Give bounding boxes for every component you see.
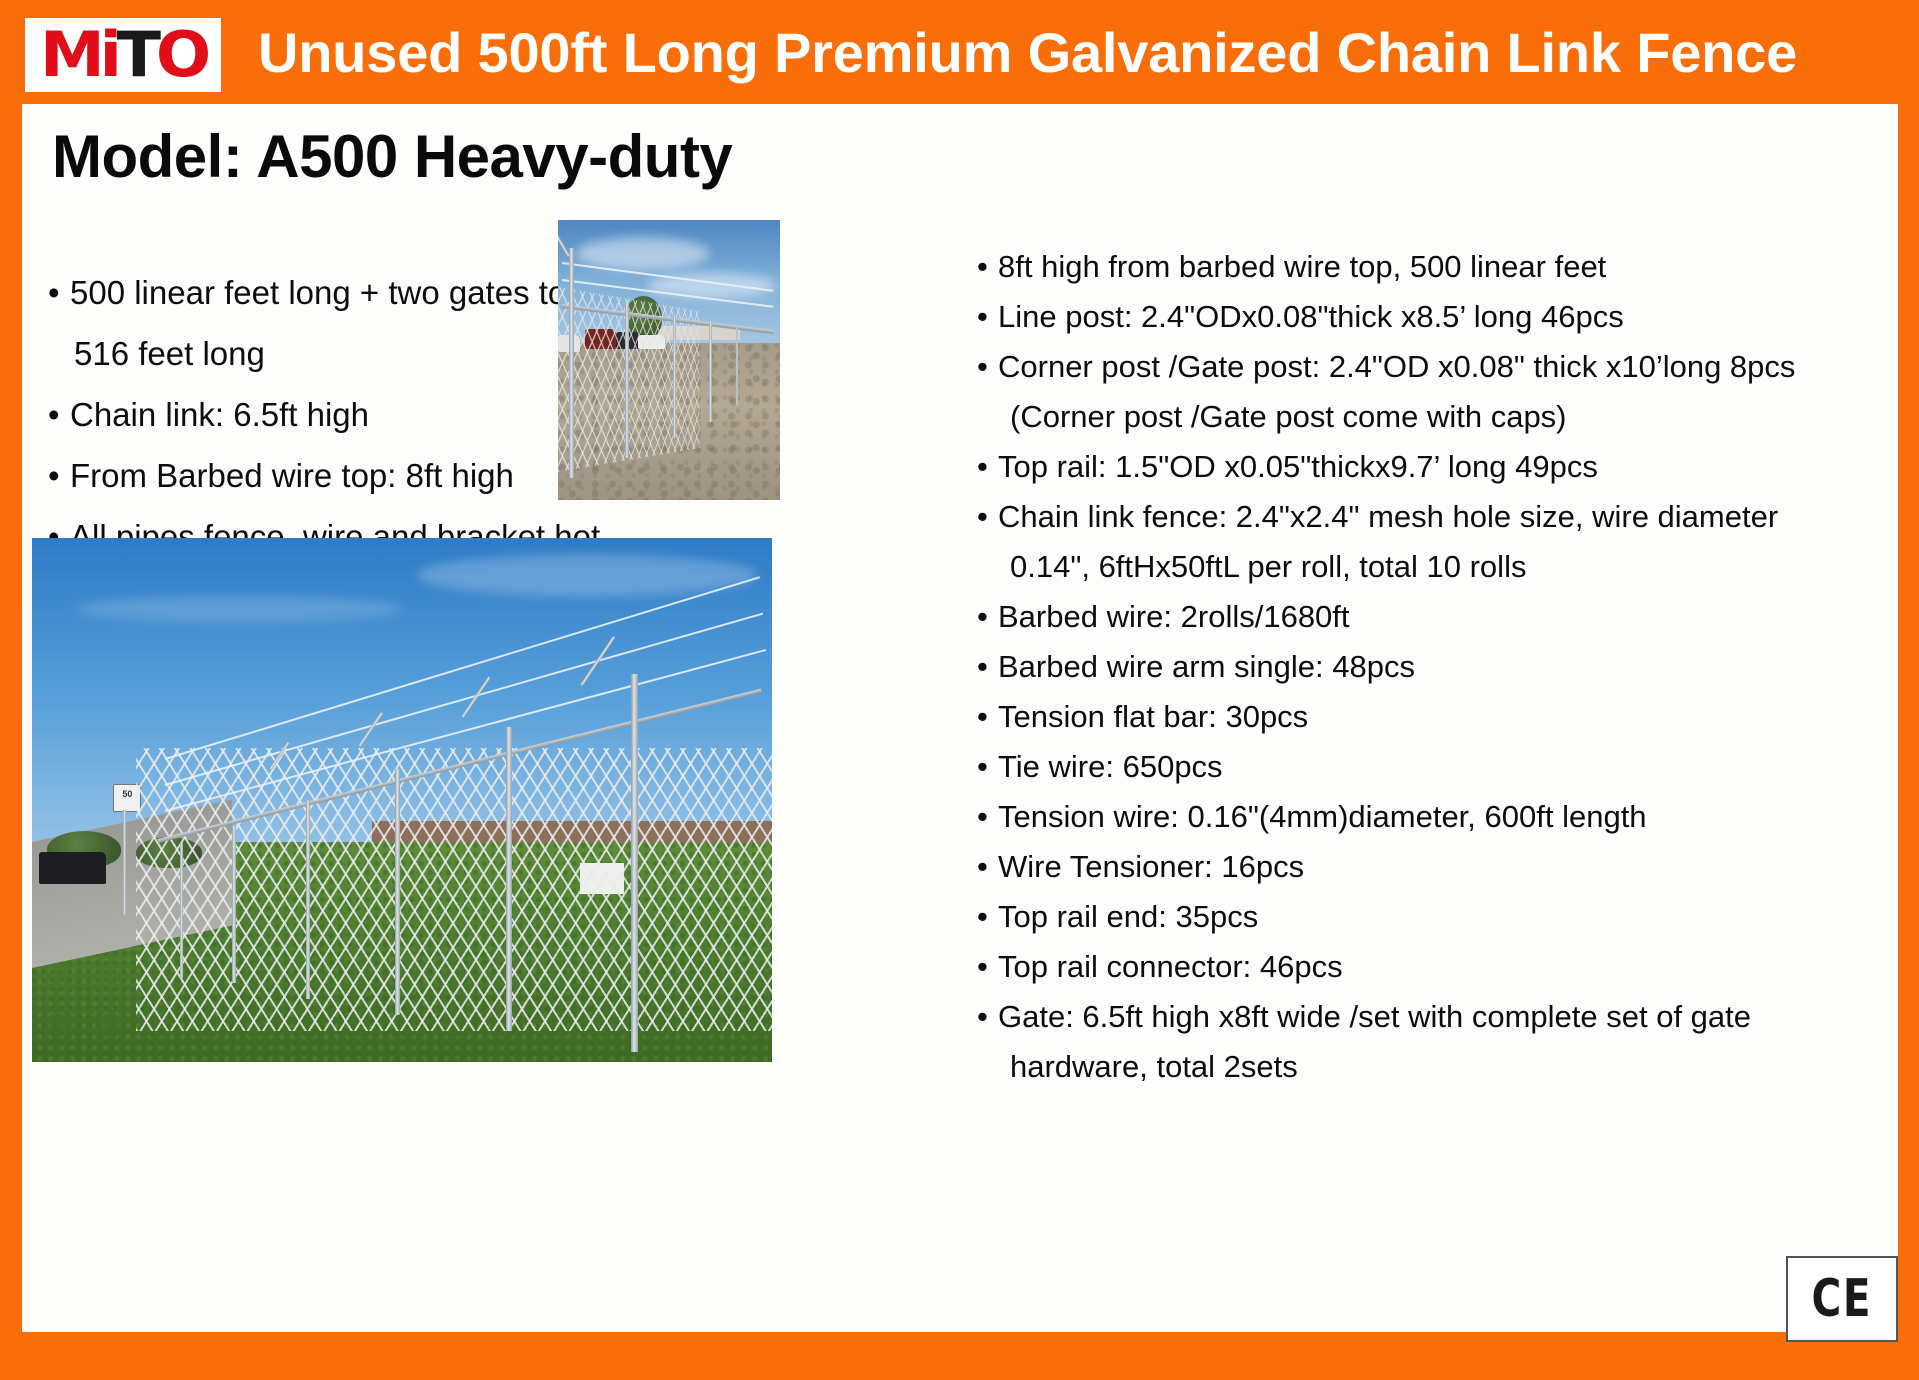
list-item: •Wire Tensioner: 16pcs <box>977 842 1877 892</box>
bullet-dot-icon: • <box>48 384 70 445</box>
logo-letter-i: i <box>100 18 117 91</box>
page-title: Model: A500 Heavy-duty <box>52 122 732 191</box>
list-item-continuation: hardware, total 2sets <box>977 1042 1877 1092</box>
cloud-shape <box>576 237 709 271</box>
line-post <box>506 727 512 1031</box>
cloud-shape <box>76 596 402 622</box>
line-post <box>395 769 400 1015</box>
list-item-label: Line post: 2.4"ODx0.08"thick x8.5’ long … <box>998 299 1624 334</box>
right-spec-list: •8ft high from barbed wire top, 500 line… <box>977 242 1877 1092</box>
bullet-dot-icon: • <box>977 942 998 992</box>
line-post <box>709 321 712 422</box>
sign-post <box>123 810 126 915</box>
line-post <box>180 842 183 978</box>
bullet-dot-icon: • <box>977 992 998 1042</box>
list-item: •Barbed wire arm single: 48pcs <box>977 642 1877 692</box>
list-item-label: Chain link: 6.5ft high <box>70 396 369 433</box>
bullet-dot-icon: • <box>48 262 70 323</box>
line-post <box>736 324 738 405</box>
ce-mark-badge: CE <box>1786 1256 1898 1342</box>
list-item: •Corner post /Gate post: 2.4"OD x0.08" t… <box>977 342 1877 392</box>
line-post <box>625 304 629 458</box>
corner-post <box>569 248 574 478</box>
list-item-label: Wire Tensioner: 16pcs <box>998 849 1304 884</box>
list-item-label: 500 linear feet long + two gates total <box>70 274 601 311</box>
header-title: Unused 500ft Long Premium Galvanized Cha… <box>258 14 1898 92</box>
list-item: •Barbed wire: 2rolls/1680ft <box>977 592 1877 642</box>
line-post <box>631 674 638 1051</box>
list-item: •Tie wire: 650pcs <box>977 742 1877 792</box>
logo-letter-t: T <box>117 18 156 91</box>
list-item-label: Top rail: 1.5"OD x0.05"thickx9.7’ long 4… <box>998 449 1598 484</box>
bullet-dot-icon: • <box>977 292 998 342</box>
list-item: •Top rail connector: 46pcs <box>977 942 1877 992</box>
logo-letter-m: M <box>40 18 100 91</box>
bullet-dot-icon: • <box>977 792 998 842</box>
bullet-dot-icon: • <box>977 342 998 392</box>
bullet-dot-icon: • <box>977 892 998 942</box>
line-post <box>306 800 310 999</box>
bullet-dot-icon: • <box>977 642 998 692</box>
cloud-shape <box>417 554 757 596</box>
line-post <box>232 826 236 983</box>
product-spec-poster: MiTO Unused 500ft Long Premium Galvanize… <box>0 0 1919 1380</box>
list-item-continuation: (Corner post /Gate post come with caps) <box>977 392 1877 442</box>
list-item: •Top rail: 1.5"OD x0.05"thickx9.7’ long … <box>977 442 1877 492</box>
list-item-label: Corner post /Gate post: 2.4"OD x0.08" th… <box>998 349 1795 384</box>
list-item-label: Barbed wire arm single: 48pcs <box>998 649 1415 684</box>
list-item-label: Tie wire: 650pcs <box>998 749 1223 784</box>
ce-mark-label: CE <box>1812 1273 1873 1325</box>
bullet-dot-icon: • <box>977 492 998 542</box>
list-item-label: Top rail end: 35pcs <box>998 899 1258 934</box>
list-item: •8ft high from barbed wire top, 500 line… <box>977 242 1877 292</box>
list-item-label: Chain link fence: 2.4"x2.4" mesh hole si… <box>998 499 1778 534</box>
list-item-label: Tension wire: 0.16"(4mm)diameter, 600ft … <box>998 799 1647 834</box>
content-card: Model: A500 Heavy-duty •500 linear feet … <box>22 104 1898 1332</box>
list-item-label: Barbed wire: 2rolls/1680ft <box>998 599 1350 634</box>
list-item-continuation: 0.14", 6ftHx50ftL per roll, total 10 rol… <box>977 542 1877 592</box>
list-item: •Tension flat bar: 30pcs <box>977 692 1877 742</box>
car-shape <box>39 852 106 883</box>
list-item: •Chain link fence: 2.4"x2.4" mesh hole s… <box>977 492 1877 542</box>
bullet-dot-icon: • <box>977 742 998 792</box>
list-item-label: Top rail connector: 46pcs <box>998 949 1343 984</box>
list-item: •Line post: 2.4"ODx0.08"thick x8.5’ long… <box>977 292 1877 342</box>
fence-photo-small <box>558 220 780 500</box>
bullet-dot-icon: • <box>977 692 998 742</box>
list-item: •Gate: 6.5ft high x8ft wide /set with co… <box>977 992 1877 1042</box>
header-bar: MiTO Unused 500ft Long Premium Galvanize… <box>0 0 1919 104</box>
list-item-label: Gate: 6.5ft high x8ft wide /set with com… <box>998 999 1751 1034</box>
mito-logo: MiTO <box>25 18 221 92</box>
list-item: •Tension wire: 0.16"(4mm)diameter, 600ft… <box>977 792 1877 842</box>
bullet-dot-icon: • <box>977 442 998 492</box>
bullet-dot-icon: • <box>48 445 70 506</box>
bullet-dot-icon: • <box>977 842 998 892</box>
list-item-label: 8ft high from barbed wire top, 500 linea… <box>998 249 1606 284</box>
list-item: •Top rail end: 35pcs <box>977 892 1877 942</box>
bullet-dot-icon: • <box>977 242 998 292</box>
list-item-label: Tension flat bar: 30pcs <box>998 699 1308 734</box>
line-post <box>673 315 676 438</box>
bullet-dot-icon: • <box>977 592 998 642</box>
list-item-label: From Barbed wire top: 8ft high <box>70 457 514 494</box>
logo-letter-o: O <box>156 18 206 91</box>
logo-wordmark: MiTO <box>40 24 206 86</box>
fence-photo-large: 50 <box>32 538 772 1062</box>
